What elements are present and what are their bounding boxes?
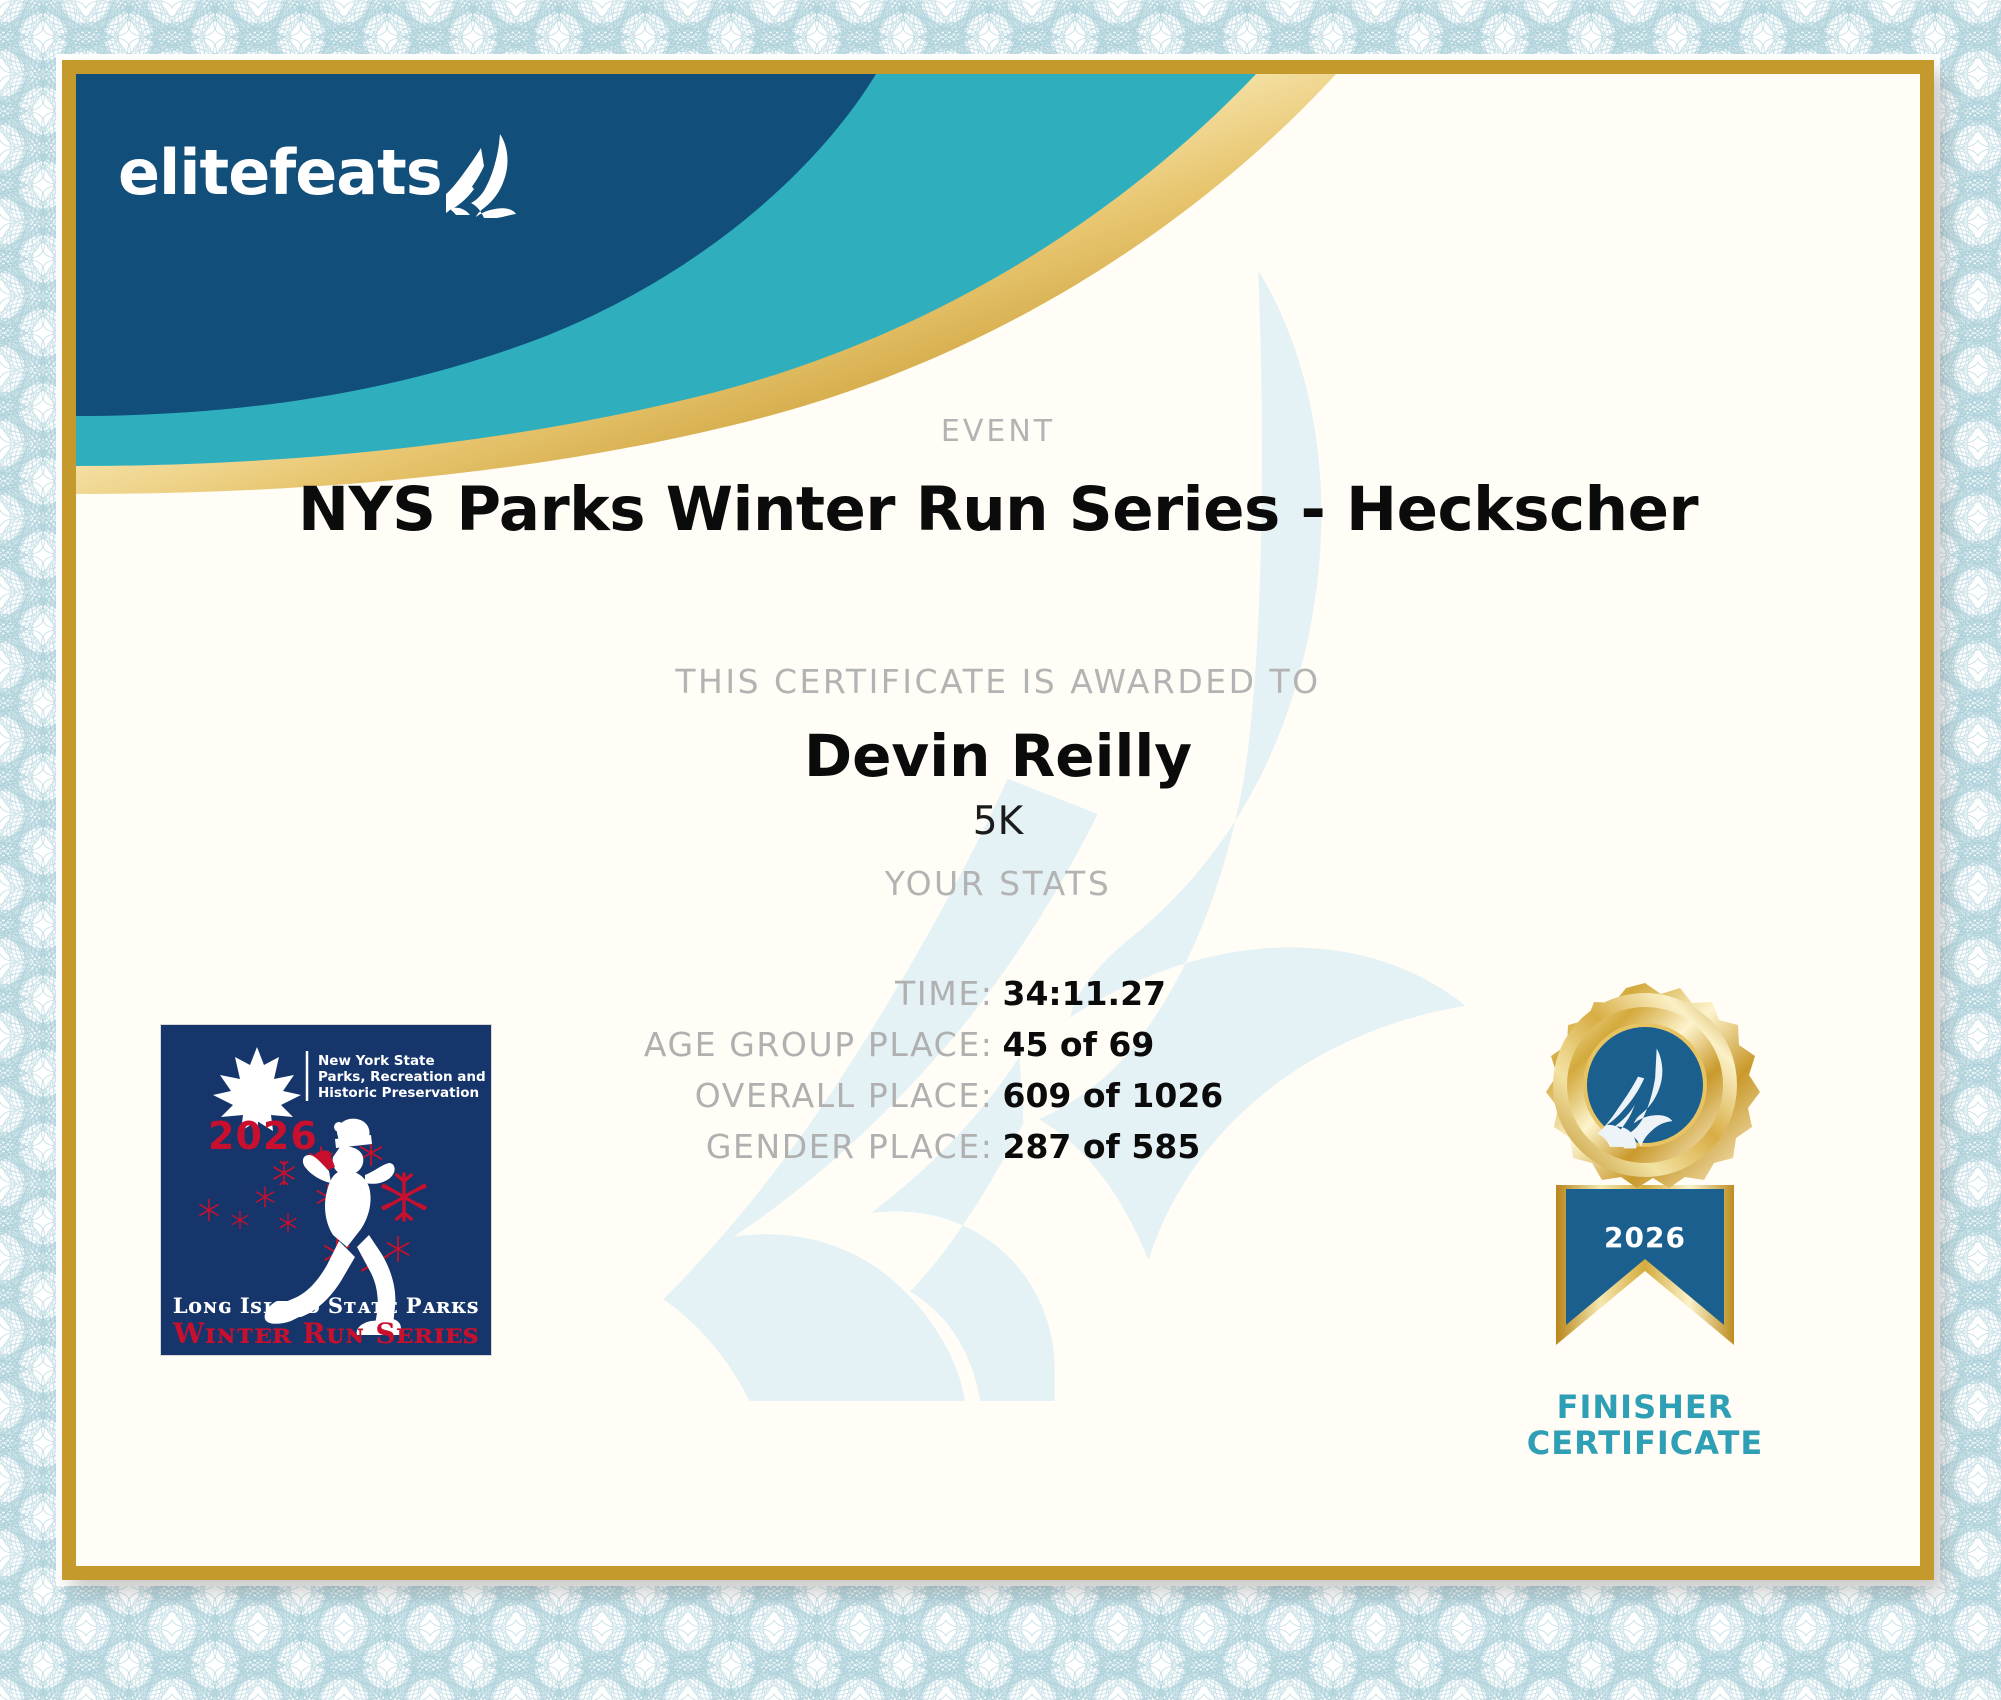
your-stats-label: YOUR STATS: [76, 864, 1920, 903]
event-label: EVENT: [76, 414, 1920, 449]
svg-text:Wɪɴᴛᴇʀ Rᴜɴ Sᴇʀɪᴇꜱ: Wɪɴᴛᴇʀ Rᴜɴ Sᴇʀɪᴇꜱ: [172, 1317, 479, 1350]
ribbon-icon: 2026: [1556, 1185, 1734, 1345]
stat-value: 45 of 69: [1003, 1025, 1463, 1064]
stat-value: 287 of 585: [1003, 1127, 1463, 1166]
stat-key: GENDER PLACE:: [534, 1127, 994, 1166]
finisher-caption-line-1: FINISHER: [1460, 1390, 1830, 1426]
race-distance: 5K: [76, 799, 1920, 844]
stat-value: 609 of 1026: [1003, 1076, 1463, 1115]
stat-key: AGE GROUP PLACE:: [534, 1025, 994, 1064]
finisher-medal: 2026: [1480, 975, 1810, 1375]
stat-value: 34:11.27: [1003, 974, 1463, 1013]
awarded-to-label: THIS CERTIFICATE IS AWARDED TO: [76, 662, 1920, 701]
svg-text:Lᴏɴɢ Iꜱʟᴀɴᴅ Sᴛᴀᴛᴇ Pᴀʀᴋꜱ: Lᴏɴɢ Iꜱʟᴀɴᴅ Sᴛᴀᴛᴇ Pᴀʀᴋꜱ: [173, 1293, 479, 1318]
medal-year: 2026: [1604, 1221, 1686, 1254]
svg-text:New York State: New York State: [318, 1053, 435, 1069]
svg-text:Parks, Recreation and: Parks, Recreation and: [318, 1069, 486, 1085]
event-title: NYS Parks Winter Run Series - Heckscher: [76, 474, 1920, 545]
finisher-caption-line-2: CERTIFICATE: [1460, 1426, 1830, 1462]
svg-text:2026: 2026: [208, 1114, 318, 1158]
stat-key: OVERALL PLACE:: [534, 1076, 994, 1115]
event-series-logo: New York State Parks, Recreation and His…: [160, 1024, 492, 1356]
stat-key: TIME:: [534, 974, 994, 1013]
recipient-name: Devin Reilly: [76, 722, 1920, 790]
certificate-page: elitefeats EVENT NYS Parks Winter Run Se…: [0, 0, 2001, 1700]
brand-wordmark: elitefeats: [118, 142, 442, 204]
finisher-caption: FINISHER CERTIFICATE: [1460, 1390, 1830, 1462]
gold-rosette-icon: [1546, 983, 1760, 1188]
svg-text:Historic Preservation: Historic Preservation: [318, 1085, 479, 1101]
winged-foot-icon: [446, 132, 516, 218]
elitefeats-logo: elitefeats: [118, 132, 516, 204]
